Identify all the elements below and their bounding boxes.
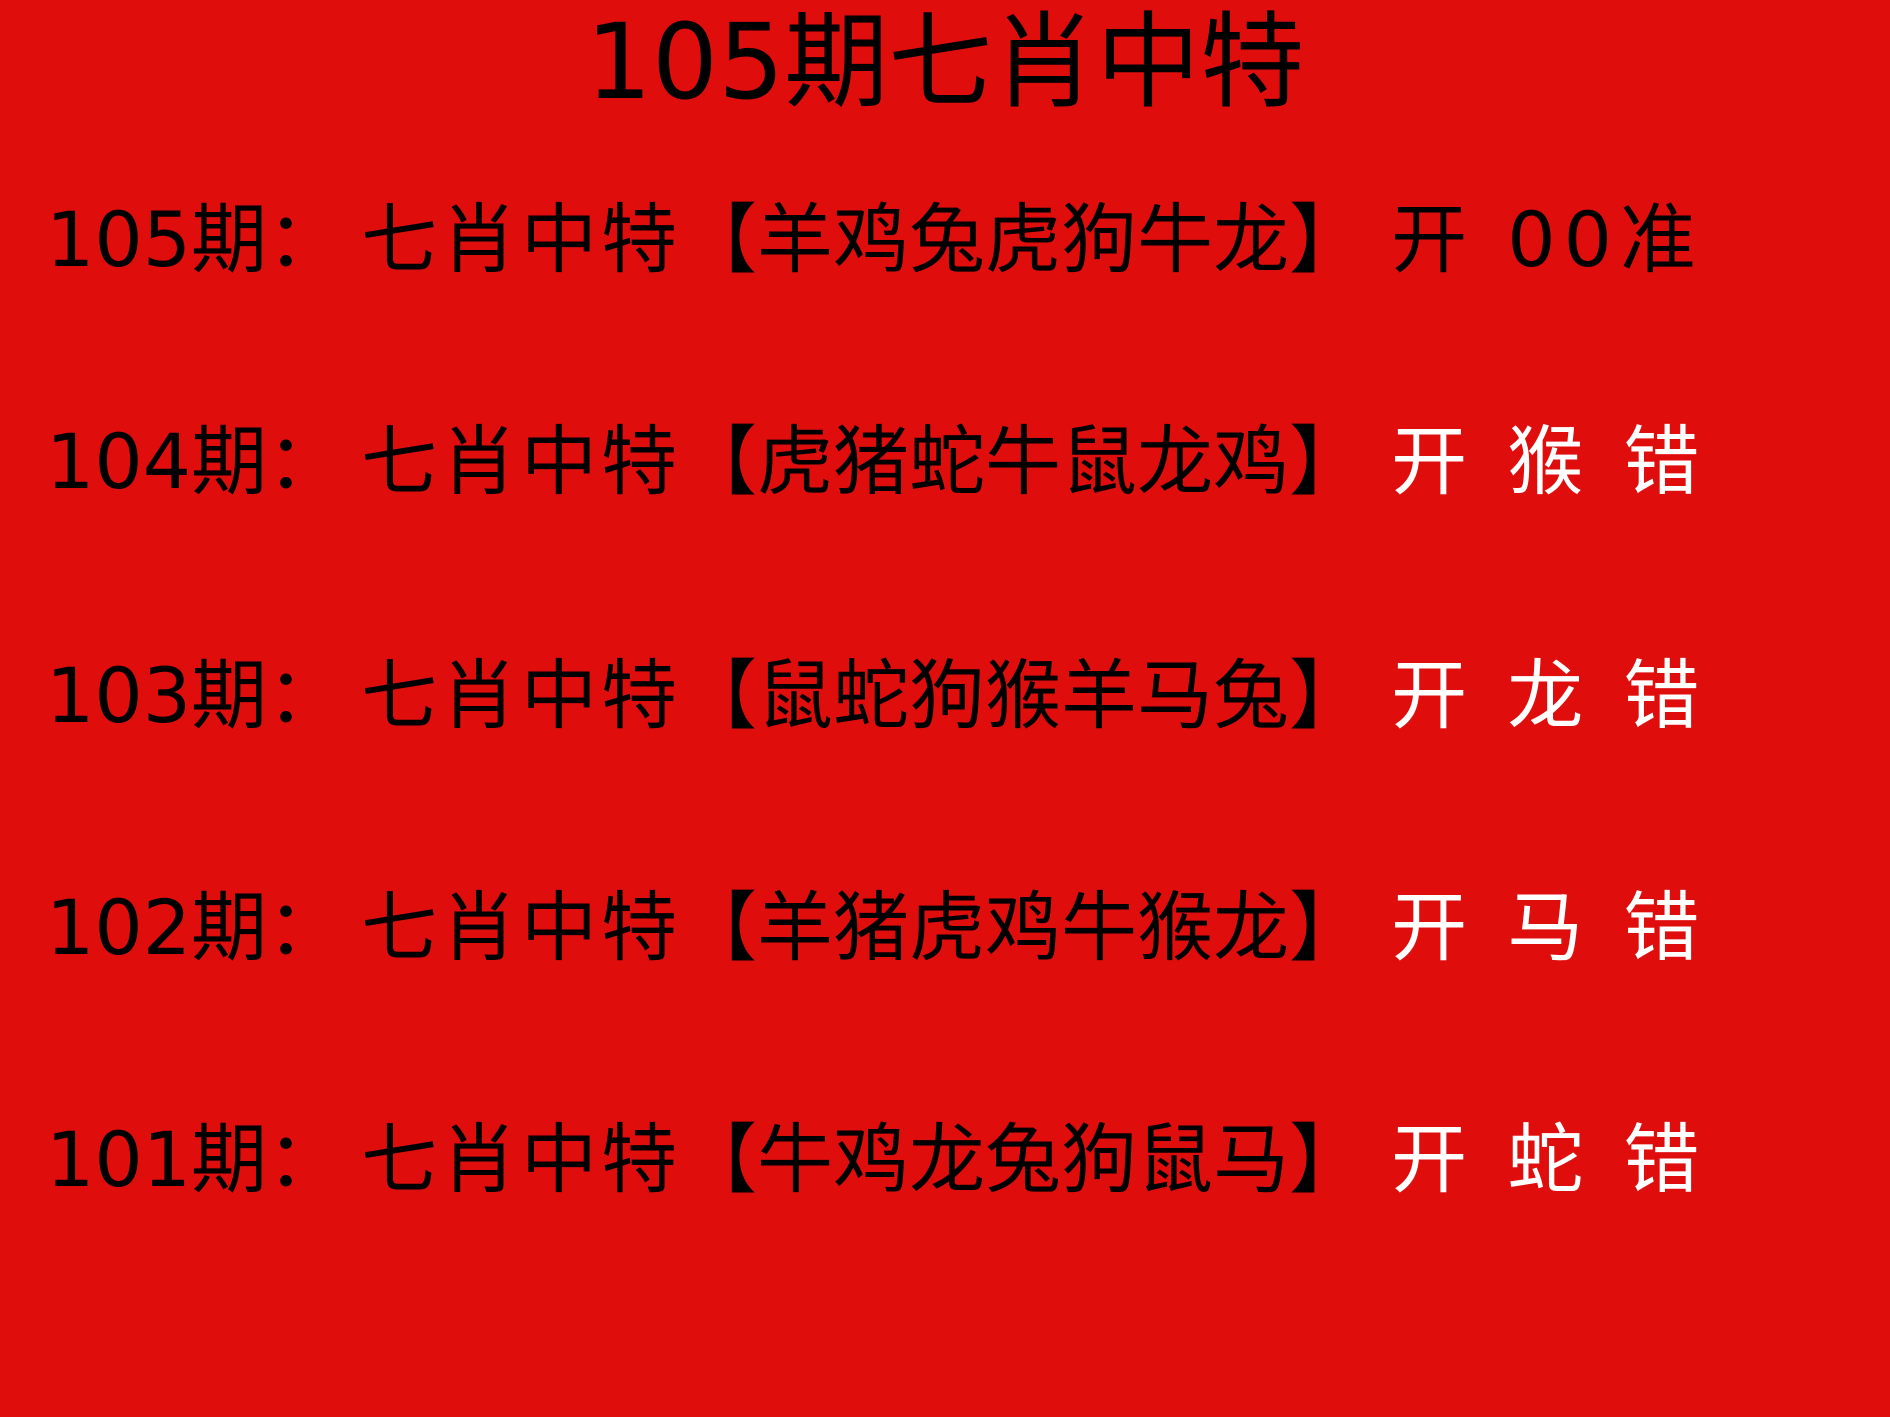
row-animal-picks: 【羊鸡兔虎狗牛龙】 <box>681 198 1365 282</box>
row-play-label: 七肖中特 <box>361 420 681 504</box>
row-issue-number: 101期： <box>46 1118 343 1202</box>
row-play-label: 七肖中特 <box>361 1118 681 1202</box>
row-issue-number: 102期： <box>46 886 343 970</box>
forecast-row: 101期： 七肖中特 【牛鸡龙兔狗鼠马】 开 蛇 错 <box>0 1118 1890 1202</box>
forecast-row: 104期： 七肖中特 【虎猪蛇牛鼠龙鸡】 开 猴 错 <box>0 420 1890 504</box>
row-result: 开 马 错 <box>1391 886 1707 970</box>
row-result: 开 蛇 错 <box>1391 1118 1707 1202</box>
lottery-forecast-poster: 105期七肖中特 105期： 七肖中特 【羊鸡兔虎狗牛龙】 开 00准 104期… <box>0 0 1890 1417</box>
forecast-row-list: 105期： 七肖中特 【羊鸡兔虎狗牛龙】 开 00准 104期： 七肖中特 【虎… <box>0 170 1890 1417</box>
forecast-row: 105期： 七肖中特 【羊鸡兔虎狗牛龙】 开 00准 <box>0 198 1890 282</box>
row-result: 开 猴 错 <box>1391 420 1707 504</box>
row-result: 开 00准 <box>1391 198 1704 282</box>
forecast-row: 103期： 七肖中特 【鼠蛇狗猴羊马兔】 开 龙 错 <box>0 654 1890 738</box>
page-title: 105期七肖中特 <box>0 4 1890 120</box>
row-animal-picks: 【鼠蛇狗猴羊马兔】 <box>681 654 1365 738</box>
row-play-label: 七肖中特 <box>361 654 681 738</box>
row-issue-number: 103期： <box>46 654 343 738</box>
row-result: 开 龙 错 <box>1391 654 1707 738</box>
row-play-label: 七肖中特 <box>361 886 681 970</box>
row-animal-picks: 【羊猪虎鸡牛猴龙】 <box>681 886 1365 970</box>
forecast-row: 102期： 七肖中特 【羊猪虎鸡牛猴龙】 开 马 错 <box>0 886 1890 970</box>
row-issue-number: 104期： <box>46 420 343 504</box>
row-animal-picks: 【牛鸡龙兔狗鼠马】 <box>681 1118 1365 1202</box>
row-animal-picks: 【虎猪蛇牛鼠龙鸡】 <box>681 420 1365 504</box>
row-issue-number: 105期： <box>46 198 343 282</box>
row-play-label: 七肖中特 <box>361 198 681 282</box>
